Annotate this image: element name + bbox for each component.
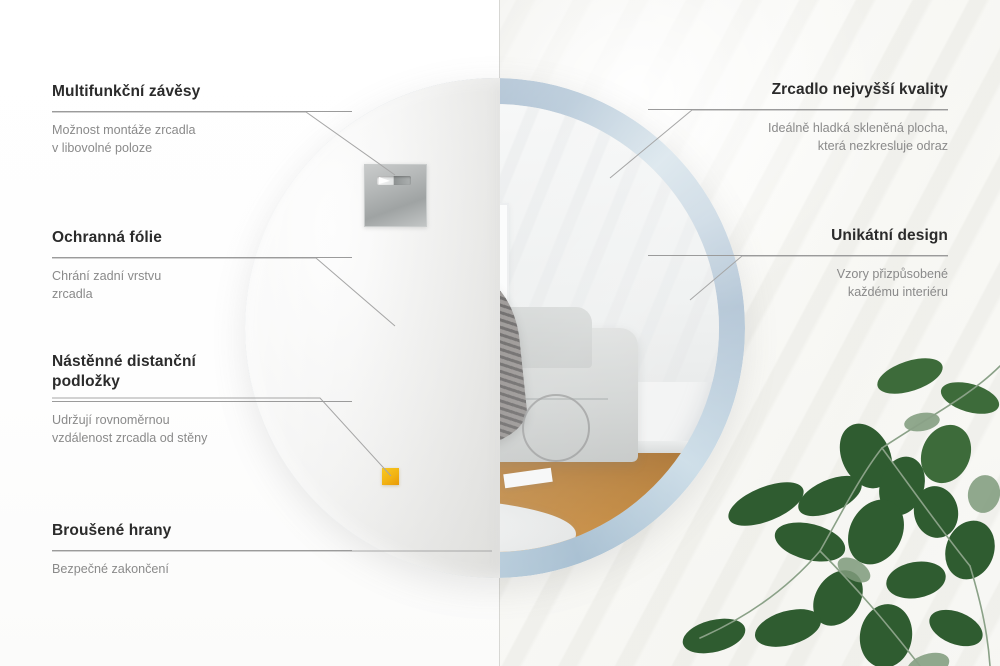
callout-body: Chrání zadní vrstvu zrcadla (52, 267, 352, 304)
infographic-canvas: Multifunkční závěsy Možnost montáže zrca… (0, 0, 1000, 666)
callout-title: Broušené hrany (52, 521, 352, 541)
callout-body: Ideálně hladká skleněná plocha, která ne… (648, 119, 948, 156)
callout-ochranna-folie: Ochranná fólie Chrání zadní vrstvu zrcad… (52, 228, 352, 303)
callout-multifunkcni-zavesy: Multifunkční závěsy Možnost montáže zrca… (52, 82, 352, 157)
callout-body: Vzory přizpůsobené každému interiéru (648, 265, 948, 302)
callout-rule (648, 109, 948, 110)
callout-rule (52, 550, 352, 551)
callout-title: Ochranná fólie (52, 228, 352, 248)
callout-brousene-hrany: Broušené hrany Bezpečné zakončení (52, 521, 352, 578)
callout-rule (52, 401, 352, 402)
callout-title: Unikátní design (648, 226, 948, 246)
callout-nastenne-distancni-podlozky: Nástěnné distanční podložky Udržují rovn… (52, 352, 352, 447)
callout-body: Bezpečné zakončení (52, 560, 352, 578)
callout-zrcadlo-nejvyssi-kvality: Zrcadlo nejvyšší kvality Ideálně hladká … (648, 80, 948, 155)
hanging-bracket-plate (364, 164, 427, 227)
callout-body: Možnost montáže zrcadla v libovolné polo… (52, 121, 352, 158)
callout-rule (52, 257, 352, 258)
callout-body: Udržují rovnoměrnou vzdálenost zrcadla o… (52, 411, 352, 448)
bracket-keyhole-slot (377, 176, 411, 185)
callout-title: Nástěnné distanční podložky (52, 352, 352, 392)
callout-rule (52, 111, 352, 112)
callout-title: Zrcadlo nejvyšší kvality (648, 80, 948, 100)
callout-unikatni-design: Unikátní design Vzory přizpůsobené každé… (648, 226, 948, 301)
wall-spacer-pad (382, 468, 399, 485)
callout-rule (648, 255, 948, 256)
callout-title: Multifunkční závěsy (52, 82, 352, 102)
